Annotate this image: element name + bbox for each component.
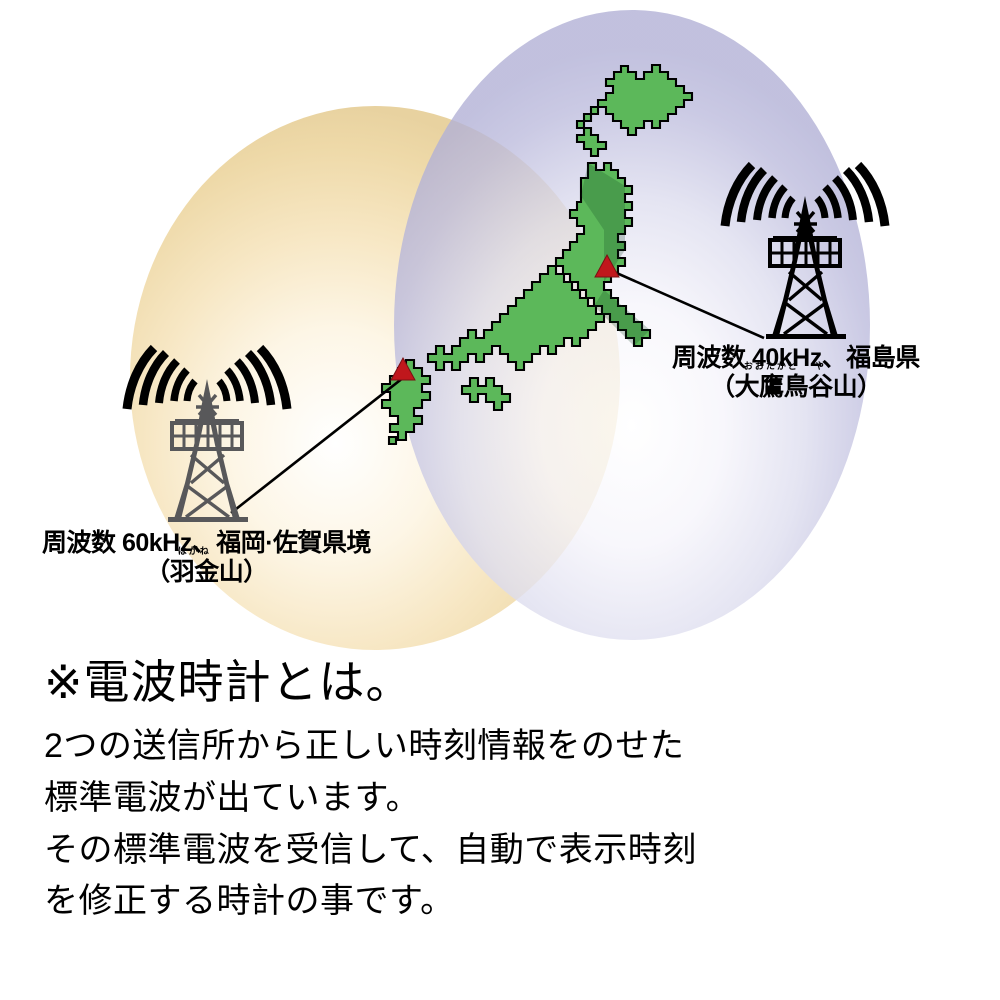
ruby-base-ya: 谷 bbox=[808, 373, 833, 401]
caption-line-1: 2つの送信所から正しい時刻情報をのせた bbox=[44, 721, 944, 773]
callout-40khz: 周波数 40kHz、福島県 （おおたかど大鷹鳥や谷山） bbox=[672, 345, 920, 401]
caption-line-3: その標準電波を受信して、自動で表示時刻 bbox=[44, 825, 944, 877]
wave-arcs-right-60khz bbox=[219, 348, 287, 409]
ruby-ootakado: おおたかど大鷹鳥 bbox=[735, 374, 809, 400]
ruby-reading-ootakado: おおたかど bbox=[735, 362, 809, 371]
callout-60khz: 周波数 60kHz、福岡·佐賀県境 （はがね羽金山） bbox=[42, 530, 371, 586]
ruby-ya: や谷 bbox=[808, 374, 833, 400]
callout-40khz-sub: （おおたかど大鷹鳥や谷山） bbox=[672, 374, 920, 400]
ruby-reading-ya: や bbox=[808, 362, 833, 371]
caption-line-2: 標準電波が出ています。 bbox=[44, 773, 944, 825]
radio-tower-icon-60khz bbox=[127, 348, 287, 522]
page-root: 周波数 40kHz、福島県 （おおたかど大鷹鳥や谷山） 周波数 60kHz、福岡… bbox=[0, 0, 1000, 1000]
wave-arcs-left-40khz bbox=[725, 165, 793, 226]
ruby-base-ootakado: 大鷹鳥 bbox=[735, 373, 809, 401]
wave-arcs-left-60khz bbox=[127, 348, 195, 409]
callout-60khz-sub: （はがね羽金山） bbox=[42, 559, 371, 585]
ruby-reading-hagane: はがね bbox=[170, 547, 219, 556]
coverage-diagram: 周波数 40kHz、福島県 （おおたかど大鷹鳥や谷山） 周波数 60kHz、福岡… bbox=[0, 0, 1000, 650]
ruby-base-hagane: 羽金 bbox=[170, 558, 219, 586]
caption-heading: ※電波時計とは。 bbox=[44, 655, 944, 709]
callout-40khz-sub-tail: 山） bbox=[833, 373, 882, 401]
radio-tower-icon-40khz bbox=[725, 165, 885, 339]
callout-60khz-sub-tail: 山） bbox=[219, 558, 268, 586]
caption-block: ※電波時計とは。 2つの送信所から正しい時刻情報をのせた 標準電波が出ています。… bbox=[44, 655, 944, 928]
caption-line-4: を修正する時計の事です。 bbox=[44, 876, 944, 928]
wave-arcs-right-40khz bbox=[817, 165, 885, 226]
callout-60khz-sub-open: （ bbox=[145, 558, 170, 586]
ruby-hagane: はがね羽金 bbox=[170, 559, 219, 585]
callout-40khz-sub-open: （ bbox=[710, 373, 735, 401]
